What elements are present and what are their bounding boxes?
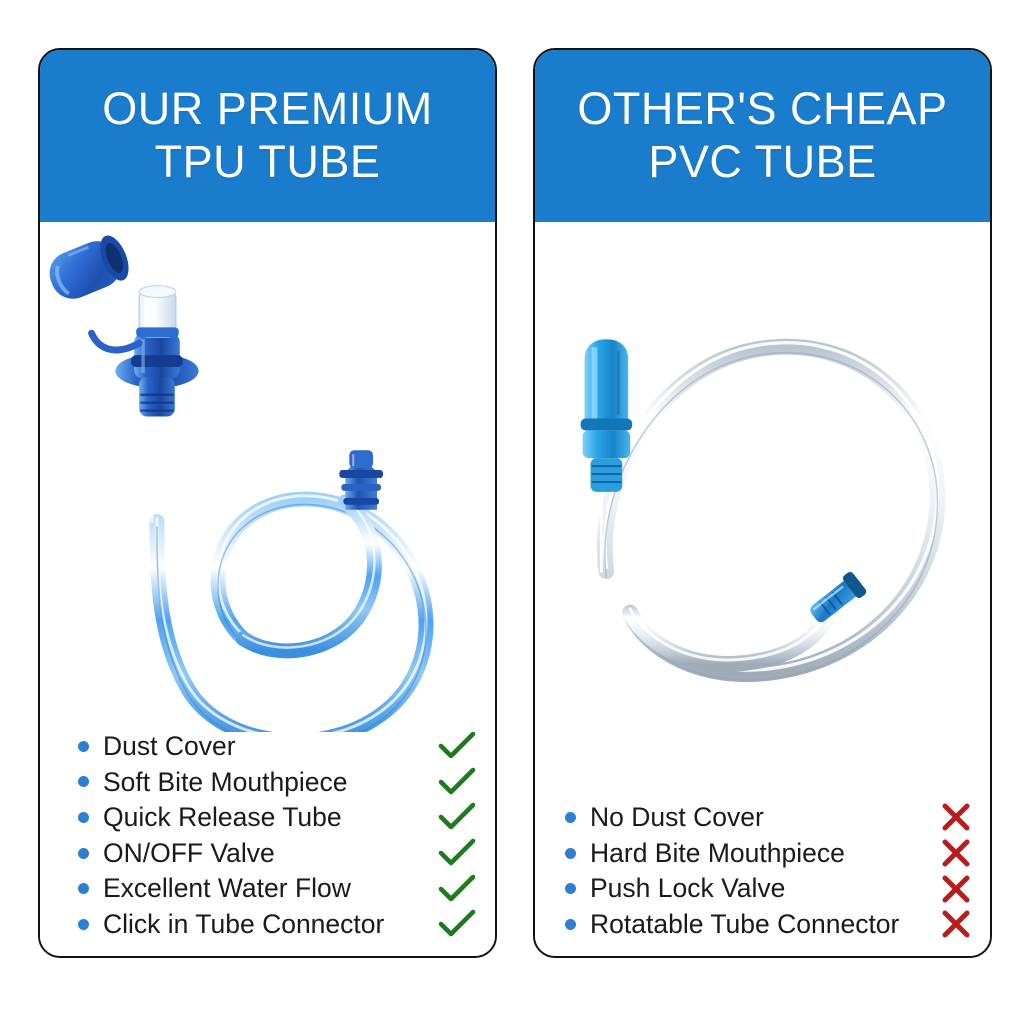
feature-label: Quick Release Tube [103, 804, 435, 831]
cross-icon [934, 837, 978, 869]
list-item: Quick Release Tube [78, 800, 479, 836]
feature-label: Hard Bite Mouthpiece [590, 840, 934, 867]
tube-coil-inner [243, 498, 374, 650]
pvc-tube-tail [630, 601, 832, 664]
panel-body-premium: Dust Cover Soft Bite Mouthpiece Quick Re… [40, 222, 495, 956]
feature-label: Rotatable Tube Connector [590, 911, 934, 938]
bullet-icon [78, 848, 89, 859]
panel-title-cheap: OTHER'S CHEAP PVC TUBE [577, 83, 947, 188]
product-image-premium-tpu-tube [40, 222, 495, 732]
panel-title-premium: OUR PREMIUM TPU TUBE [102, 83, 433, 188]
cross-icon [934, 873, 978, 905]
bullet-icon [78, 776, 89, 787]
quick-release-connector-icon [339, 450, 383, 509]
bullet-icon [78, 741, 89, 752]
feature-list-cheap: No Dust Cover Hard Bite Mouthpiece Push … [535, 800, 990, 942]
feature-label: ON/OFF Valve [103, 840, 435, 867]
bullet-icon [78, 883, 89, 894]
feature-label: Excellent Water Flow [103, 875, 435, 902]
panel-header-cheap: OTHER'S CHEAP PVC TUBE [535, 50, 990, 222]
tube-coil [157, 496, 426, 732]
list-item: Click in Tube Connector [78, 906, 479, 942]
bullet-icon [565, 848, 576, 859]
list-item: Push Lock Valve [565, 871, 978, 907]
feature-label: Soft Bite Mouthpiece [103, 769, 435, 796]
bullet-icon [565, 812, 576, 823]
list-item: No Dust Cover [565, 800, 978, 836]
check-icon [435, 873, 479, 905]
list-item: ON/OFF Valve [78, 835, 479, 871]
feature-label: Dust Cover [103, 733, 435, 760]
bullet-icon [565, 883, 576, 894]
check-icon [435, 801, 479, 833]
panel-header-premium: OUR PREMIUM TPU TUBE [40, 50, 495, 222]
feature-label: No Dust Cover [590, 804, 934, 831]
comparison-infographic: OUR PREMIUM TPU TUBE [0, 0, 1024, 1024]
check-icon [435, 908, 479, 940]
dust-cover-cap-icon [43, 232, 139, 350]
panel-body-cheap: No Dust Cover Hard Bite Mouthpiece Push … [535, 222, 990, 956]
soft-bite-mouthpiece-icon [136, 286, 179, 338]
panel-premium: OUR PREMIUM TPU TUBE [38, 48, 497, 958]
cross-icon [934, 801, 978, 833]
list-item: Rotatable Tube Connector [565, 906, 978, 942]
cheap-tube-illustration [535, 222, 990, 732]
premium-tube-illustration [40, 222, 495, 732]
rotatable-tube-connector-icon [805, 570, 867, 627]
bullet-icon [565, 919, 576, 930]
feature-label: Push Lock Valve [590, 875, 934, 902]
list-item: Dust Cover [78, 728, 479, 764]
bullet-icon [78, 919, 89, 930]
list-item: Hard Bite Mouthpiece [565, 835, 978, 871]
product-image-cheap-pvc-tube [535, 222, 990, 732]
list-item: Soft Bite Mouthpiece [78, 764, 479, 800]
panel-cheap: OTHER'S CHEAP PVC TUBE [533, 48, 992, 958]
feature-label: Click in Tube Connector [103, 911, 435, 938]
check-icon [435, 730, 479, 762]
feature-list-premium: Dust Cover Soft Bite Mouthpiece Quick Re… [40, 728, 495, 942]
pvc-tube-loop [605, 343, 938, 680]
check-icon [435, 766, 479, 798]
check-icon [435, 837, 479, 869]
pvc-tube-upper [601, 490, 606, 571]
list-item: Excellent Water Flow [78, 871, 479, 907]
tube-upper-straight [152, 419, 157, 522]
bullet-icon [78, 812, 89, 823]
cross-icon [934, 908, 978, 940]
